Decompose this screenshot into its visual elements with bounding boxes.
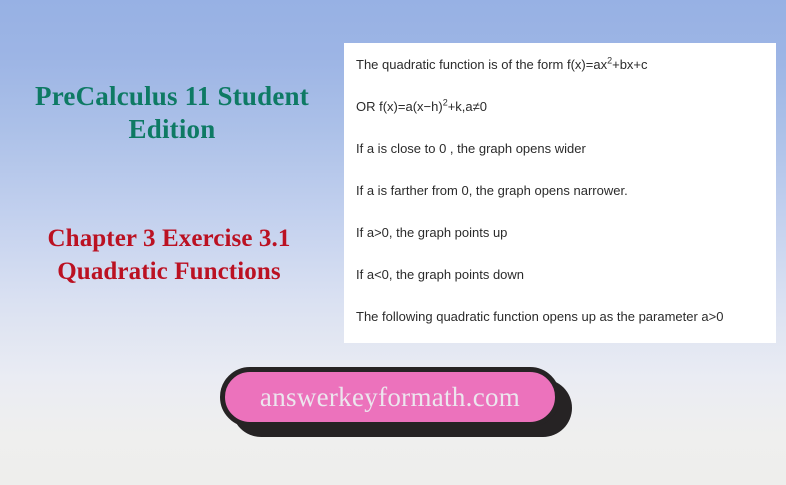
notes-line-text-tail: +bx+c <box>612 57 647 72</box>
notes-line-text: If a is farther from 0, the graph opens … <box>356 183 628 198</box>
brand-website-button[interactable]: answerkeyformath.com <box>220 367 560 427</box>
notes-line: If a is close to 0 , the graph opens wid… <box>356 141 762 157</box>
notes-line-text: If a<0, the graph points down <box>356 267 524 282</box>
notes-line: The following quadratic function opens u… <box>356 309 762 325</box>
slide-canvas: PreCalculus 11 Student Edition Chapter 3… <box>0 0 786 485</box>
notes-line-text: If a>0, the graph points up <box>356 225 507 240</box>
chapter-subtitle: Chapter 3 Exercise 3.1 Quadratic Functio… <box>4 222 334 288</box>
notes-line-text: If a is close to 0 , the graph opens wid… <box>356 141 586 156</box>
notes-line-text: OR f(x)=a(x−h) <box>356 99 443 114</box>
notes-line: If a>0, the graph points up <box>356 225 762 241</box>
notes-line-text-tail: +k,a≠0 <box>448 99 487 114</box>
notes-panel: The quadratic function is of the form f(… <box>344 43 776 343</box>
notes-line: The quadratic function is of the form f(… <box>356 57 762 73</box>
brand-button-label: answerkeyformath.com <box>260 382 520 413</box>
notes-line-text: The following quadratic function opens u… <box>356 309 724 324</box>
brand-button-group: answerkeyformath.com <box>220 367 580 447</box>
notes-line: If a<0, the graph points down <box>356 267 762 283</box>
page-title: PreCalculus 11 Student Edition <box>8 80 336 146</box>
notes-line: If a is farther from 0, the graph opens … <box>356 183 762 199</box>
notes-line-text: The quadratic function is of the form f(… <box>356 57 607 72</box>
notes-line: OR f(x)=a(x−h)2+k,a≠0 <box>356 99 762 115</box>
